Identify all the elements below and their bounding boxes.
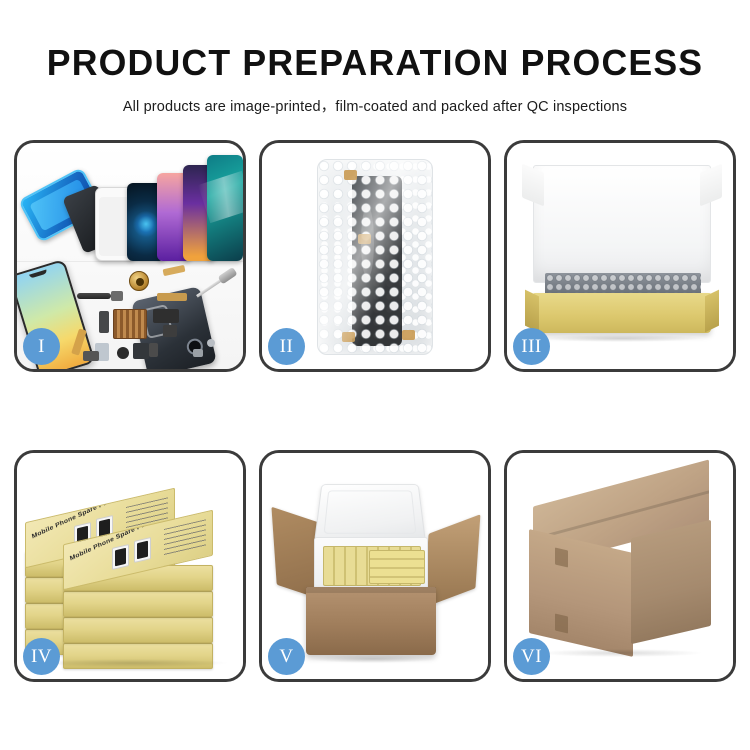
step-badge-5: V [268, 638, 305, 675]
step-panel-3: III [504, 140, 736, 372]
carton-side-face [631, 520, 711, 644]
step-panel-5: V [259, 450, 491, 682]
carton-shadow [310, 655, 436, 663]
plastic-sheen [318, 160, 432, 354]
step-panel-2: II [259, 140, 491, 372]
kraft-box-base [533, 293, 711, 333]
box-slab-front-4 [63, 617, 213, 643]
logic-board-component [113, 309, 147, 339]
product-preparation-infographic: PRODUCT PREPARATION PROCESS All products… [0, 0, 750, 750]
carton-shadow-6 [541, 649, 701, 657]
stack-shadow [37, 659, 227, 667]
foam-box-base [314, 537, 428, 593]
component-flex-e [153, 309, 179, 323]
carton-tape-2 [555, 613, 568, 633]
step-badge-3: III [513, 328, 550, 365]
box-shadow [541, 335, 703, 342]
step-panel-1: I [14, 140, 246, 372]
step-badge-6: VI [513, 638, 550, 675]
box-stack: Mobile Phone Spare Parts Mobile Phone Sp… [23, 479, 243, 661]
component-small-3 [133, 343, 149, 359]
step-badge-1: I [23, 328, 60, 365]
box-lid-open [533, 165, 711, 283]
component-small-9 [207, 339, 215, 347]
step-badge-4: IV [23, 638, 60, 675]
process-steps-grid: I II [14, 140, 736, 688]
header: PRODUCT PREPARATION PROCESS All products… [0, 0, 750, 116]
component-flex-f [163, 325, 177, 337]
box-thumbnail-3 [112, 544, 129, 570]
component-small-5 [99, 311, 109, 333]
step-badge-2: II [268, 328, 305, 365]
page-title: PRODUCT PREPARATION PROCESS [4, 42, 747, 84]
component-flex-a [77, 293, 111, 299]
component-small-2 [117, 347, 129, 359]
box-thumbnail-4 [134, 537, 151, 563]
speaker-component [129, 271, 149, 291]
carton-body [306, 587, 436, 655]
page-subtitle: All products are image-printed，film-coat… [0, 95, 750, 116]
component-small-8 [193, 349, 203, 357]
component-flex-c [157, 293, 187, 301]
carton-tape-1 [555, 547, 568, 567]
phone-screen-teal [207, 155, 243, 261]
box-spec-lines-front [164, 519, 206, 557]
bubble-wrap-bag [317, 159, 433, 355]
foam-box-lid [314, 484, 426, 542]
packed-boxes-row-2 [369, 550, 425, 584]
screwdriver-icon [194, 267, 237, 300]
step-panel-4: Mobile Phone Spare Parts Mobile Phone Sp… [14, 450, 246, 682]
component-small-7 [111, 291, 123, 301]
component-small-4 [149, 343, 158, 357]
component-flex-d [163, 265, 186, 276]
step-panel-6: VI [504, 450, 736, 682]
component-small-6 [83, 351, 99, 361]
box-slab-front-3 [63, 591, 213, 617]
carton-front-face [529, 529, 633, 657]
